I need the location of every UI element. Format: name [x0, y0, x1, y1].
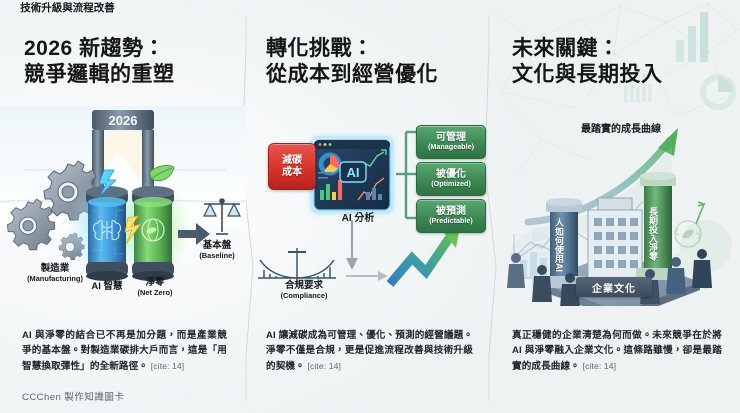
label-growth-curve: 最踏實的成長曲線 — [556, 120, 686, 135]
ai-dashboard-icon: AI — [314, 140, 390, 210]
cost-box-line1: 減碳 — [282, 155, 302, 166]
bridge-compliance-icon — [258, 248, 336, 284]
panel1-citation: [cite: 14] — [151, 361, 184, 371]
label-manufacturing: 製造業 (Manufacturing) — [12, 264, 98, 283]
cost-reduction-box: 減碳 成本 — [268, 143, 316, 190]
pillar-left-label: 人如何使用AI — [551, 205, 563, 285]
growth-arrow-icon — [390, 226, 460, 284]
infographic-canvas: 2026 新趨勢： 競爭邏輯的重塑 — [0, 0, 740, 413]
panel2-body: AI 讓減碳成為可管理、優化、預測的經營議題。淨零不僅是合規，更是促進流程改善與… — [266, 328, 473, 375]
panel1-title-line1: 2026 新趨勢： — [24, 37, 165, 60]
panel3-title-line1: 未來關鍵： — [512, 37, 620, 60]
panel1-body-text: AI 與淨零的結合已不再是加分題，而是產業競爭的基本盤。對製造業碳排大戶而言，這… — [22, 330, 227, 372]
label-net-zero: 淨零 (Net Zero) — [122, 278, 188, 297]
branch-arrows — [396, 132, 416, 218]
panel-trend-2026: 2026 新趨勢： 競爭邏輯的重塑 — [0, 0, 246, 413]
output-box-manageable: 可管理 (Manageable) — [416, 125, 486, 159]
label-baseline: 基本盤 (Baseline) — [188, 241, 246, 260]
panel2-body-text: AI 讓減碳成為可管理、優化、預測的經營議題。淨零不僅是合規，更是促進流程改善與… — [266, 330, 473, 372]
panel3-body: 真正穩健的企業清楚為何而做。未來競爭在於將 AI 與淨零融入企業文化。這條路雖慢… — [512, 328, 722, 375]
arrow-down-outcome — [346, 220, 358, 270]
panel3-title-line2: 文化與長期投入 — [512, 62, 663, 88]
label-ai-analysis: AI 分析 — [318, 209, 398, 224]
output-box-optimized: 被優化 (Optimized) — [416, 162, 486, 196]
label-compliance: 合規要求 (Compliance) — [258, 281, 350, 300]
panel3-illustration — [492, 106, 740, 306]
pillar-right-label: 長期投入淨零 — [645, 190, 657, 278]
cost-box-line2: 成本 — [282, 167, 302, 178]
panel2-citation: [cite: 14] — [308, 361, 341, 371]
panel2-title-line1: 轉化挑戰： — [266, 37, 374, 60]
panel1-title: 2026 新趨勢： 競爭邏輯的重塑 — [24, 36, 175, 87]
panel2-title: 轉化挑戰： 從成本到經營優化 — [266, 36, 438, 87]
footer-credit: CCChen 製作知識圖卡 — [22, 389, 124, 403]
output-box-predictable: 被預測 (Predictable) — [416, 199, 486, 233]
svg-text:AI: AI — [347, 165, 360, 180]
office-building-icon — [588, 198, 642, 284]
panel3-body-text: 真正穩健的企業清楚為何而做。未來競爭在於將 AI 與淨零融入企業文化。這條路雖慢… — [512, 330, 722, 372]
arrow-compliance-to-outcome — [346, 271, 388, 281]
scales-baseline — [204, 199, 240, 234]
panel2-title-line2: 從成本到經營優化 — [266, 62, 438, 88]
panel3-citation: [cite: 14] — [583, 361, 616, 371]
corporate-culture-plinth: 企業文化 — [576, 277, 652, 297]
panel3-title: 未來關鍵： 文化與長期投入 — [512, 36, 663, 87]
corporate-culture-label: 企業文化 — [592, 280, 636, 295]
svg-text:2026: 2026 — [109, 113, 138, 128]
panel1-title-line2: 競爭邏輯的重塑 — [24, 62, 175, 88]
panel1-body: AI 與淨零的結合已不再是加分題，而是產業競爭的基本盤。對製造業碳排大戶而言，這… — [22, 328, 227, 375]
